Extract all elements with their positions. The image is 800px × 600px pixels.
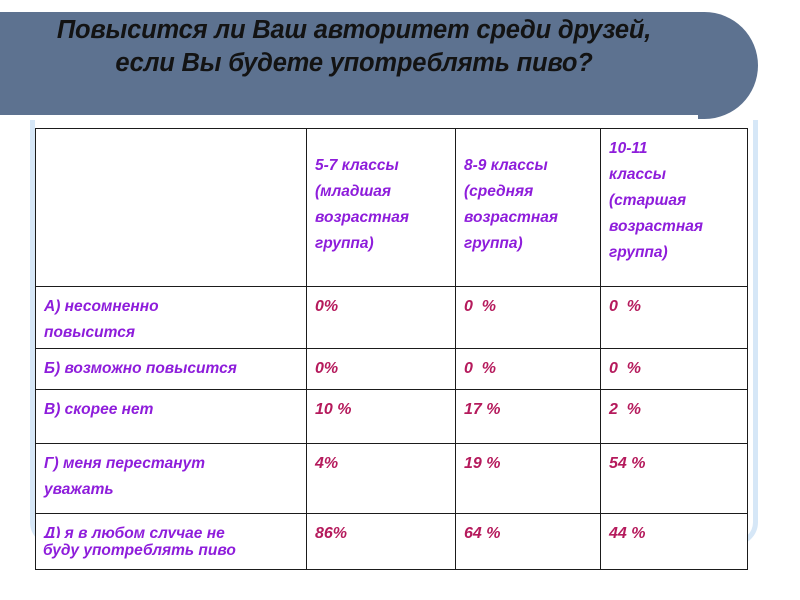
header-line: возрастная [464, 205, 592, 231]
cell-d-grades-5-7: 86% [307, 514, 456, 570]
cell-b-grades-5-7: 0% [307, 349, 456, 390]
header-line: 10-11 [609, 136, 739, 162]
header-line: группа) [464, 231, 592, 257]
cell-g-grades-10-11: 54 % [601, 444, 748, 514]
row-label-d-overflow-line: буду употреблять пиво [43, 538, 240, 564]
cell-v-grades-10-11: 2 % [601, 390, 748, 444]
header-line: (средняя [464, 179, 592, 205]
cell-v-grades-8-9: 17 % [456, 390, 601, 444]
title-underline-rule [0, 115, 698, 119]
header-line: группа) [315, 231, 447, 257]
survey-results-table: 5-7 классы (младшая возрастная группа) 8… [35, 128, 748, 570]
column-header-grades-10-11: 10-11 классы (старшая возрастная группа) [601, 129, 748, 287]
cell-g-grades-5-7: 4% [307, 444, 456, 514]
label-line: В) скорее нет [44, 397, 298, 423]
header-line: возрастная [315, 205, 447, 231]
row-label-g: Г) меня перестанут уважать [36, 444, 307, 514]
header-line: 5-7 классы [315, 153, 447, 179]
column-header-grades-5-7: 5-7 классы (младшая возрастная группа) [307, 129, 456, 287]
label-line: Г) меня перестанут [44, 451, 298, 477]
header-line: возрастная [609, 214, 739, 240]
header-line: группа) [609, 240, 739, 266]
table-row: А) несомненно повысится 0% 0 % 0 % [36, 287, 748, 349]
cell-b-grades-8-9: 0 % [456, 349, 601, 390]
header-line: классы [609, 162, 739, 188]
table-header-row: 5-7 классы (младшая возрастная группа) 8… [36, 129, 748, 287]
header-line: 8-9 классы [464, 153, 592, 179]
table-row: Г) меня перестанут уважать 4% 19 % 54 % [36, 444, 748, 514]
header-line: (старшая [609, 188, 739, 214]
header-line: (младшая [315, 179, 447, 205]
label-line: уважать [44, 477, 298, 503]
table-row: Б) возможно повысится 0% 0 % 0 % [36, 349, 748, 390]
label-line: А) несомненно [44, 294, 298, 320]
cell-a-grades-5-7: 0% [307, 287, 456, 349]
cell-d-grades-10-11: 44 % [601, 514, 748, 570]
cell-a-grades-10-11: 0 % [601, 287, 748, 349]
cell-a-grades-8-9: 0 % [456, 287, 601, 349]
label-line: Б) возможно повысится [44, 356, 298, 382]
page-title: Повысится ли Ваш авторитет среди друзей,… [14, 14, 694, 80]
cell-v-grades-5-7: 10 % [307, 390, 456, 444]
row-label-b: Б) возможно повысится [36, 349, 307, 390]
label-line: повысится [44, 320, 298, 346]
cell-g-grades-8-9: 19 % [456, 444, 601, 514]
row-label-v: В) скорее нет [36, 390, 307, 444]
table-corner-cell [36, 129, 307, 287]
slide: Повысится ли Ваш авторитет среди друзей,… [0, 0, 800, 600]
cell-b-grades-10-11: 0 % [601, 349, 748, 390]
table-row: В) скорее нет 10 % 17 % 2 % [36, 390, 748, 444]
row-label-a: А) несомненно повысится [36, 287, 307, 349]
cell-d-grades-8-9: 64 % [456, 514, 601, 570]
column-header-grades-8-9: 8-9 классы (средняя возрастная группа) [456, 129, 601, 287]
